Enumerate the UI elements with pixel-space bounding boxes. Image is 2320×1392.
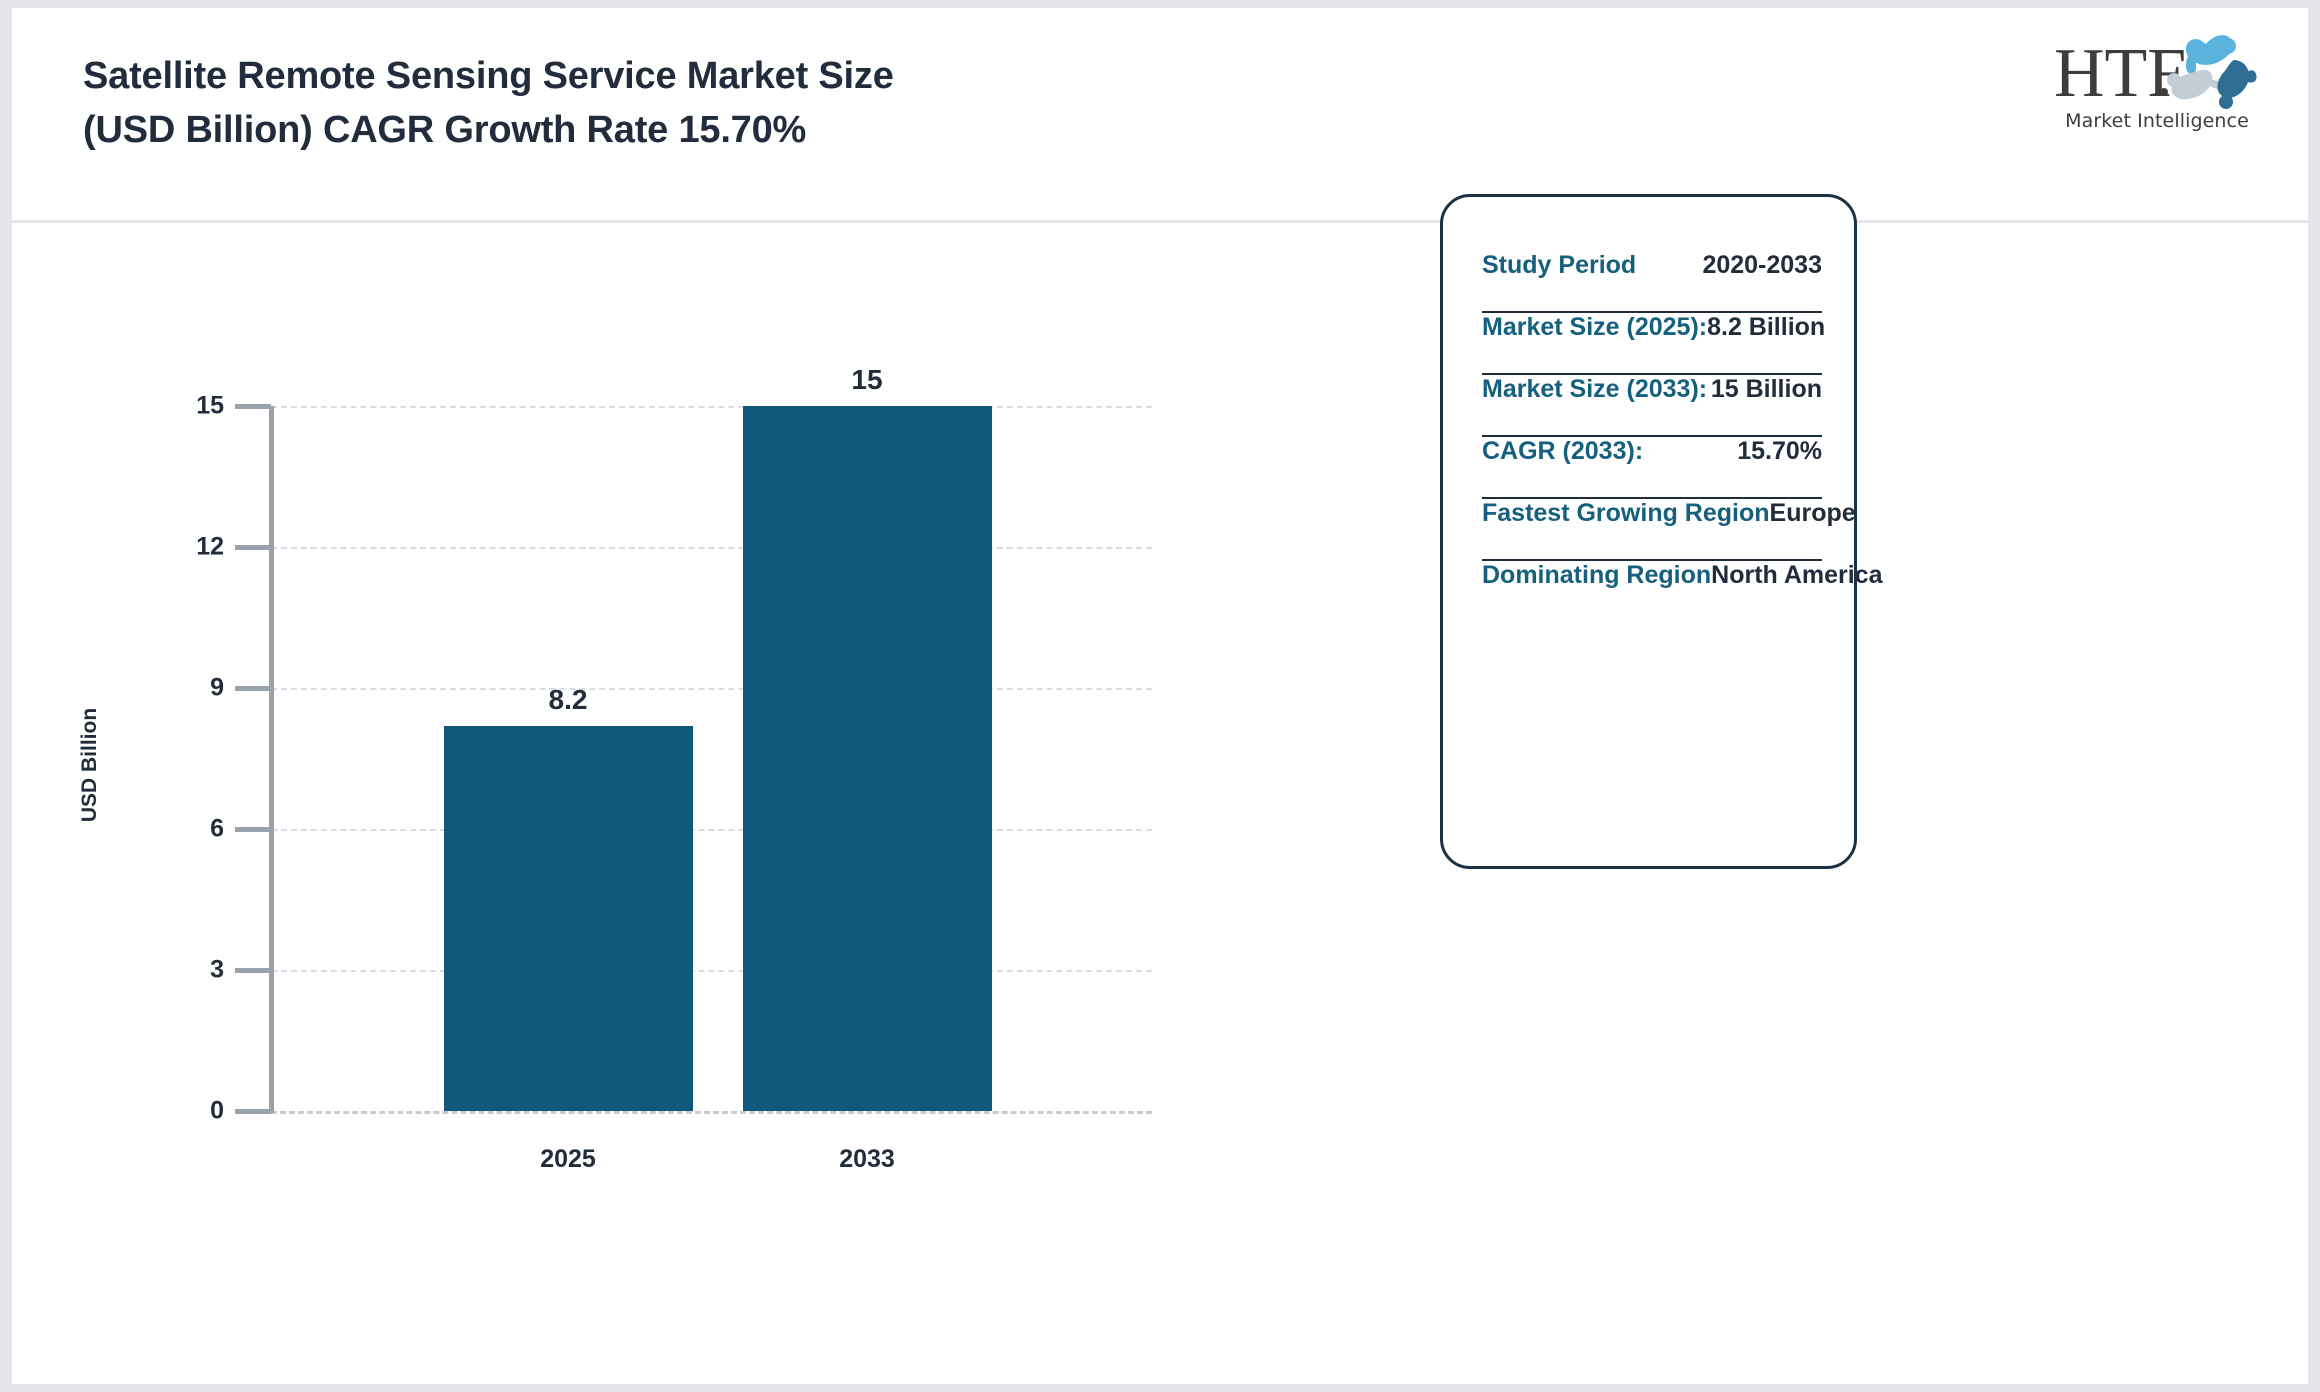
summary-row: Study Period2020-2033 — [1482, 251, 1822, 313]
y-axis-tick — [235, 404, 271, 409]
summary-row-label: Market Size (2025): — [1482, 313, 1707, 342]
y-axis-tick — [235, 1109, 271, 1114]
summary-row-value: North America — [1711, 561, 1882, 590]
summary-row-value: 15 Billion — [1711, 375, 1822, 404]
market-summary-rows: Study Period2020-2033Market Size (2025):… — [1482, 251, 1822, 623]
y-axis-tick — [235, 968, 271, 973]
summary-row-label: Study Period — [1482, 251, 1636, 280]
market-size-bar-chart: 03691215 USD Billion 8.215 20252033 — [12, 223, 1432, 1384]
gridline — [271, 406, 1152, 408]
y-axis-spine — [269, 406, 274, 1113]
bar-value-label: 15 — [767, 364, 967, 396]
y-axis-tick — [235, 686, 271, 691]
summary-row-label: CAGR (2033): — [1482, 437, 1643, 466]
market-summary-panel: Study Period2020-2033Market Size (2025):… — [1440, 194, 1857, 869]
summary-row: CAGR (2033):15.70% — [1482, 437, 1822, 499]
summary-row-value: Europe — [1770, 499, 1856, 528]
y-axis-title: USD Billion — [78, 655, 102, 875]
summary-row-value: 15.70% — [1737, 437, 1822, 466]
y-axis-tick-label: 9 — [24, 674, 224, 703]
y-axis-tick-label: 12 — [24, 533, 224, 562]
summary-row: Market Size (2033):15 Billion — [1482, 375, 1822, 437]
bar[interactable] — [743, 406, 992, 1111]
htf-market-intelligence-logo: HTF Market Intellig — [2052, 30, 2262, 145]
y-axis-tick — [235, 827, 271, 832]
x-axis-tick-label: 2033 — [767, 1145, 967, 1174]
summary-row-value: 2020-2033 — [1702, 251, 1822, 280]
svg-text:HTF: HTF — [2054, 35, 2186, 112]
header: Satellite Remote Sensing Service Market … — [12, 8, 2308, 223]
gridline — [271, 970, 1152, 972]
gridline — [271, 688, 1152, 690]
summary-row-label: Fastest Growing Region — [1482, 499, 1770, 528]
y-axis-tick-label: 15 — [24, 392, 224, 421]
summary-row-value: 8.2 Billion — [1707, 313, 1825, 342]
summary-row-label: Dominating Region — [1482, 561, 1711, 590]
logo-tagline: Market Intelligence — [2052, 110, 2262, 132]
baseline-gridline — [271, 1111, 1152, 1114]
summary-row-label: Market Size (2033): — [1482, 375, 1707, 404]
y-axis-tick-label: 0 — [24, 1097, 224, 1126]
y-axis-tick — [235, 545, 271, 550]
gridline — [271, 829, 1152, 831]
summary-row: Fastest Growing RegionEurope — [1482, 499, 1822, 561]
bar[interactable] — [444, 726, 693, 1111]
summary-row: Market Size (2025):8.2 Billion — [1482, 313, 1822, 375]
gridline — [271, 547, 1152, 549]
y-axis-tick-label: 3 — [24, 956, 224, 985]
page-title: Satellite Remote Sensing Service Market … — [83, 50, 1483, 158]
x-axis-tick-label: 2025 — [468, 1145, 668, 1174]
bar-value-label: 8.2 — [468, 684, 668, 716]
summary-row: Dominating RegionNorth America — [1482, 561, 1822, 623]
logo-mark-icon: HTF — [2052, 30, 2262, 114]
y-axis-tick-label: 6 — [24, 815, 224, 844]
report-card: Satellite Remote Sensing Service Market … — [12, 8, 2308, 1384]
